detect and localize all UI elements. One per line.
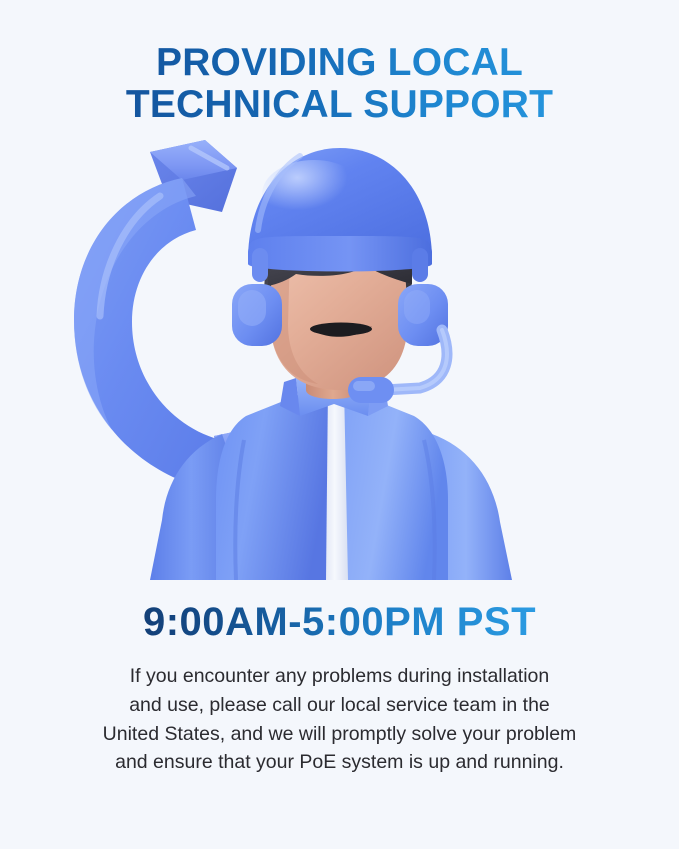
page-title: PROVIDING LOCAL TECHNICAL SUPPORT — [126, 42, 553, 126]
support-hours: 9:00AM-5:00PM PST — [143, 600, 536, 645]
page-title-line-2: TECHNICAL SUPPORT — [126, 84, 553, 126]
support-description: If you encounter any problems during ins… — [40, 662, 640, 777]
page-title-line-1: PROVIDING LOCAL — [126, 42, 553, 84]
support-illustration — [0, 134, 679, 586]
support-promo-page: PROVIDING LOCAL TECHNICAL SUPPORT — [0, 0, 679, 849]
support-description-line-1: If you encounter any problems during ins… — [40, 662, 640, 691]
support-description-line-2: and use, please call our local service t… — [40, 691, 640, 720]
support-description-line-3: United States, and we will promptly solv… — [40, 720, 640, 749]
support-description-line-4: and ensure that your PoE system is up an… — [40, 748, 640, 777]
cap-helmet — [248, 148, 432, 272]
